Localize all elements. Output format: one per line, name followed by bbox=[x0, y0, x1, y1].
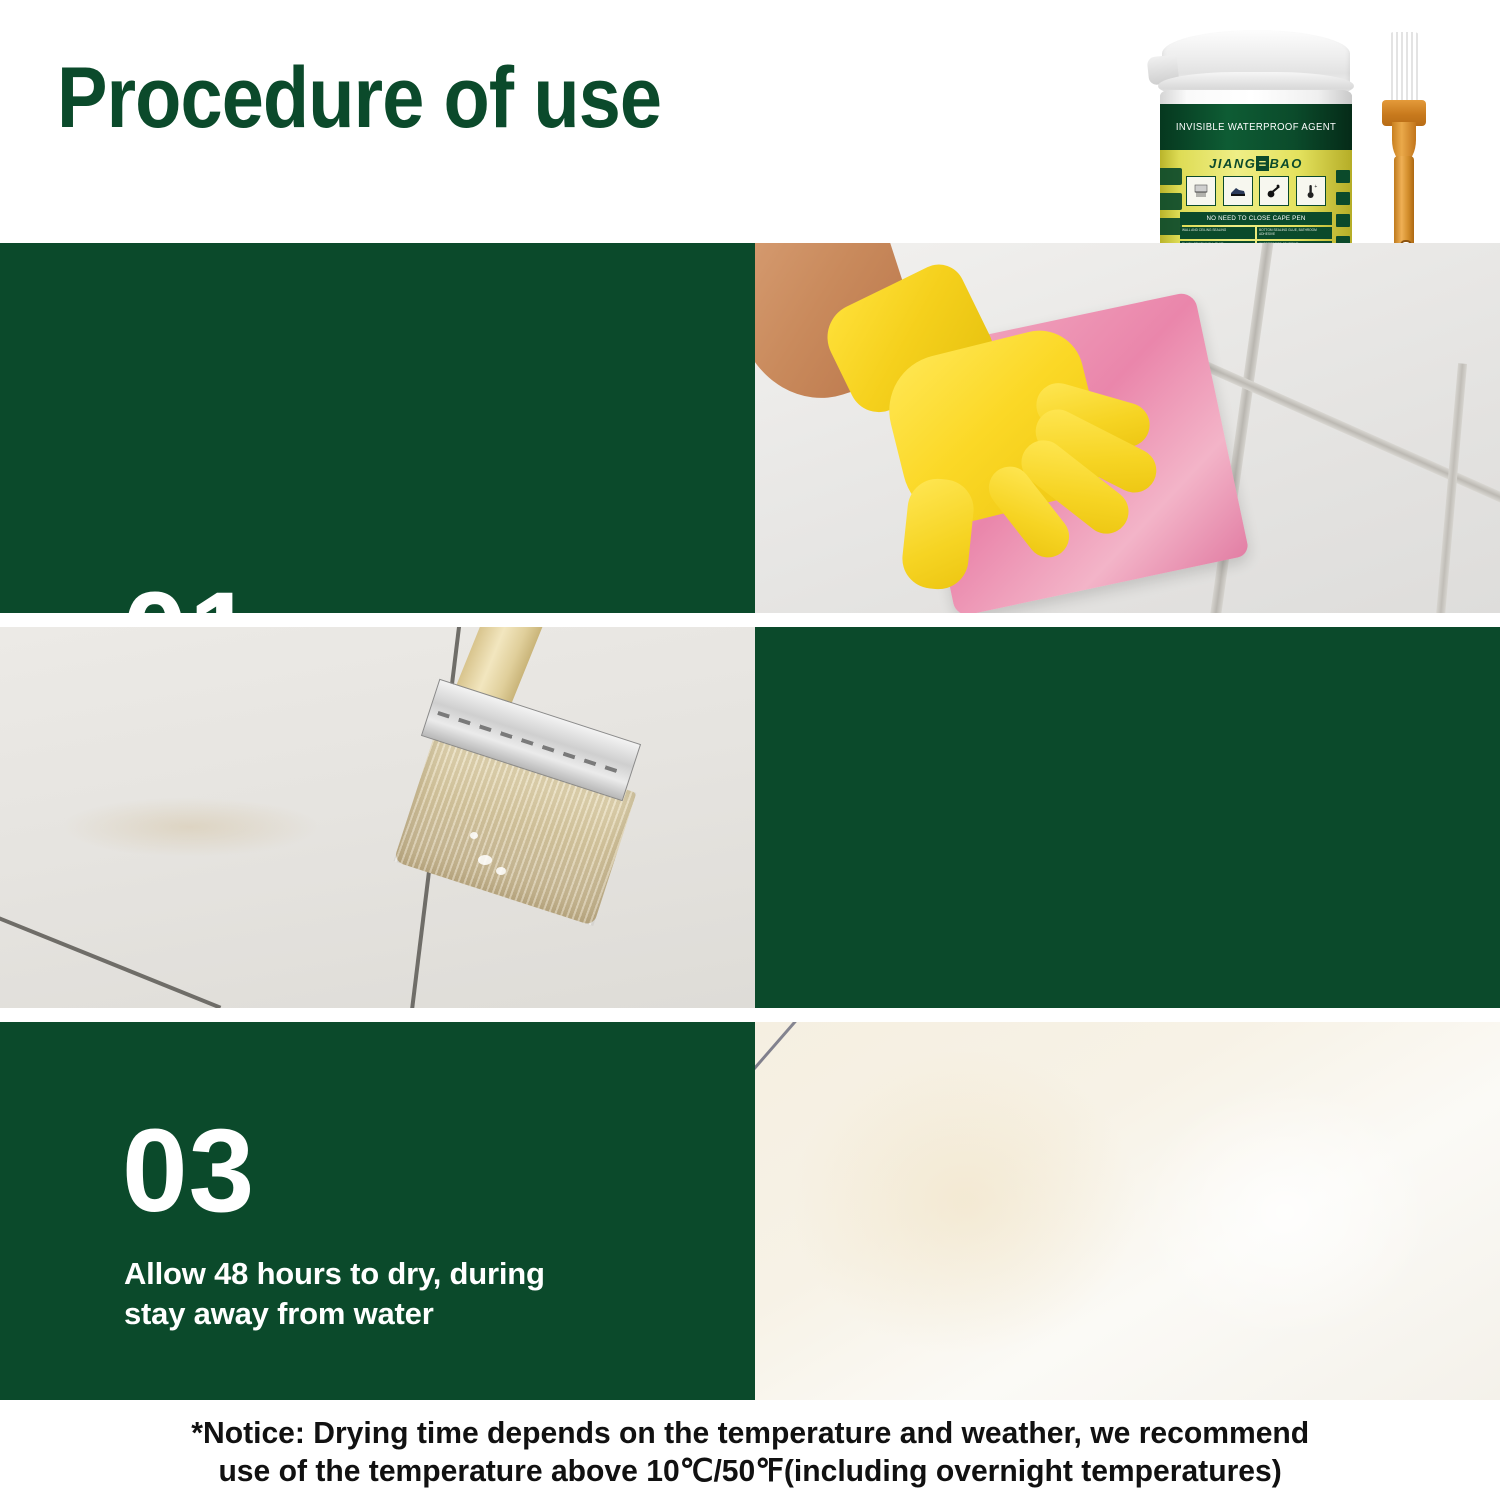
photo-dry-tile-grout-line bbox=[755, 1022, 1500, 1400]
notice-line-2: use of the temperature above 10℃/50℉(inc… bbox=[218, 1452, 1281, 1490]
jar-side-tab bbox=[1160, 168, 1182, 185]
fabric-spray-icon bbox=[1259, 176, 1289, 206]
svg-text:+: + bbox=[1314, 184, 1317, 190]
jar-brand-part1: JIANG bbox=[1209, 156, 1256, 171]
jar-feature-text: WALL AND CEILING SEALING bbox=[1180, 227, 1255, 239]
jar-side-tab bbox=[1160, 193, 1182, 210]
notice-line-1: *Notice: Drying time depends on the temp… bbox=[191, 1414, 1309, 1452]
wet-agent-droplet bbox=[496, 867, 506, 875]
tile-grout-icon bbox=[1186, 176, 1216, 206]
tile-highlight bbox=[1135, 1082, 1435, 1342]
application-brush bbox=[1370, 32, 1436, 272]
grout-line bbox=[1432, 363, 1467, 613]
step-panel-3: 03 Allow 48 hours to dry, during stay aw… bbox=[0, 1022, 755, 1400]
page-title: Procedure of use bbox=[57, 55, 661, 141]
step-label-3-line2: stay away from water bbox=[124, 1294, 545, 1334]
jar-right-stripe bbox=[1336, 214, 1350, 227]
wet-agent-droplet bbox=[470, 832, 478, 839]
jar-right-stripe bbox=[1336, 192, 1350, 205]
jar-brand: JIANG=BAO bbox=[1160, 156, 1352, 171]
thermometer-icon: + bbox=[1296, 176, 1326, 206]
jar-right-stripe bbox=[1336, 170, 1350, 183]
jar-side-tab bbox=[1160, 218, 1182, 235]
jar-label-title: INVISIBLE WATERPROOF AGENT bbox=[1176, 121, 1336, 133]
tile-stain bbox=[60, 797, 320, 857]
jar-feature-icons: + bbox=[1186, 176, 1326, 204]
step-row-2: 02 Apply by brush bbox=[0, 627, 1500, 1008]
step-label-3-line1: Allow 48 hours to dry, during bbox=[124, 1254, 545, 1294]
shoe-icon bbox=[1223, 176, 1253, 206]
step-panel-1: 01 Clean surface dirt bbox=[0, 243, 755, 613]
step-row-3: 03 Allow 48 hours to dry, during stay aw… bbox=[0, 1022, 1500, 1400]
step-label-3: Allow 48 hours to dry, during stay away … bbox=[124, 1254, 545, 1333]
jar-feature-text: BOTTOM SEALING GLUE, BATHROOM ADHESIVE bbox=[1257, 227, 1332, 239]
wet-agent-droplet bbox=[478, 855, 492, 865]
jar-brand-part2: BAO bbox=[1269, 156, 1302, 171]
photo-clean-tile-with-cloth bbox=[755, 243, 1500, 613]
jar-banner: NO NEED TO CLOSE CAPE PEN bbox=[1180, 212, 1332, 225]
jar-label-header: INVISIBLE WATERPROOF AGENT bbox=[1160, 104, 1352, 150]
jar-brand-separator: = bbox=[1256, 156, 1269, 171]
grout-line bbox=[0, 908, 221, 1008]
step-panel-2: 02 Apply by brush bbox=[755, 627, 1500, 1008]
tile-highlight bbox=[795, 1052, 1135, 1352]
notice-block: *Notice: Drying time depends on the temp… bbox=[0, 1404, 1500, 1500]
photo-brush-applying-agent bbox=[0, 627, 755, 1008]
step-number-1: 01 bbox=[122, 575, 255, 613]
step-number-3: 03 bbox=[122, 1112, 255, 1230]
product-shot: INVISIBLE WATERPROOF AGENT JIANG=BAO bbox=[1120, 18, 1480, 280]
infographic-page: Procedure of use INVISIBLE WATERPROOF AG… bbox=[0, 0, 1500, 1500]
step-row-1: 01 Clean surface dirt bbox=[0, 243, 1500, 613]
brush-bristles bbox=[1388, 32, 1420, 104]
